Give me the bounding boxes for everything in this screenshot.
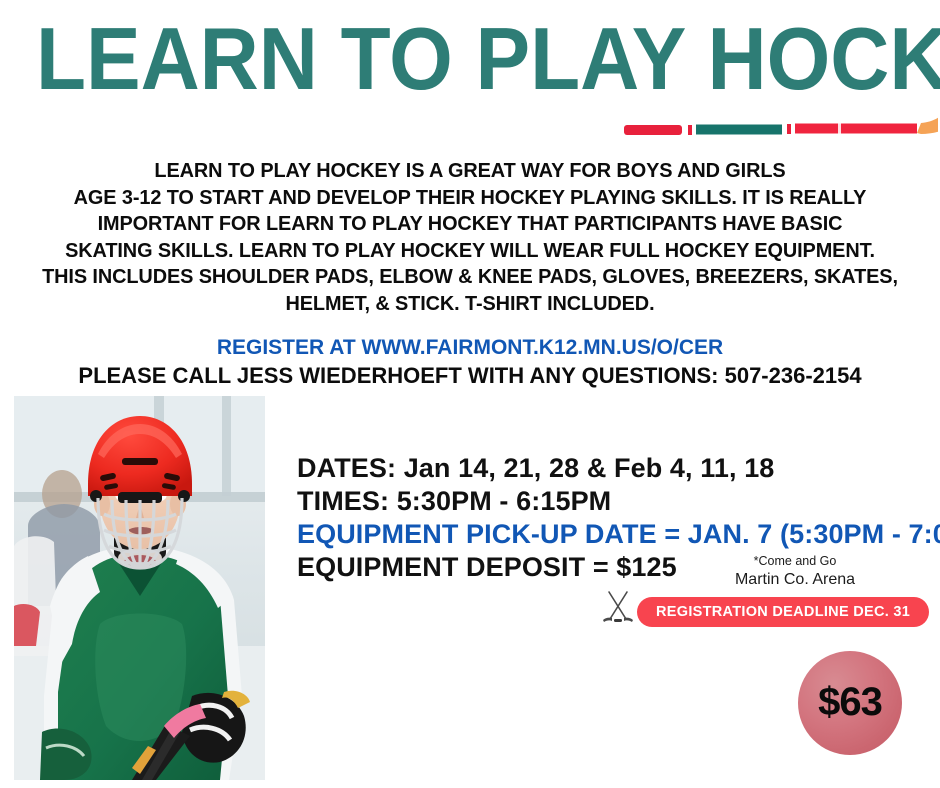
price-amount: $63 bbox=[818, 682, 882, 722]
equipment-pickup-row: EQUIPMENT PICK-UP DATE = JAN. 7 (5:30PM … bbox=[297, 518, 897, 551]
description-line-1: LEARN TO PLAY HOCKEY IS A GREAT WAY FOR … bbox=[14, 158, 926, 185]
avatar bbox=[14, 396, 265, 780]
price-badge: $63 bbox=[798, 651, 902, 755]
venue-note: *Come and Go Martin Co. Arena bbox=[700, 553, 890, 590]
times-row: TIMES: 5:30PM - 6:15PM bbox=[297, 485, 897, 518]
arena-name: Martin Co. Arena bbox=[700, 569, 890, 590]
description-line-4: SKATING SKILLS. LEARN TO PLAY HOCKEY WIL… bbox=[14, 238, 926, 265]
young-hockey-player-photo bbox=[14, 396, 265, 780]
description-line-6: HELMET, & STICK. T-SHIRT INCLUDED. bbox=[14, 291, 926, 318]
description-line-2: AGE 3-12 TO START AND DEVELOP THEIR HOCK… bbox=[14, 185, 926, 212]
crossed-sticks-puck-icon bbox=[596, 586, 640, 630]
status-badge: REGISTRATION DEADLINE DEC. 31 bbox=[637, 597, 929, 627]
register-url-line[interactable]: REGISTER AT WWW.FAIRMONT.K12.MN.US/O/CER bbox=[0, 336, 940, 360]
dates-row: DATES: Jan 14, 21, 28 & Feb 4, 11, 18 bbox=[297, 452, 897, 485]
contact-phone-line: PLEASE CALL JESS WIEDERHOEFT WITH ANY QU… bbox=[0, 363, 940, 389]
come-and-go-note: *Come and Go bbox=[700, 553, 890, 569]
hockey-stick-icon bbox=[608, 84, 938, 154]
description-line-3: IMPORTANT FOR LEARN TO PLAY HOCKEY THAT … bbox=[14, 211, 926, 238]
description-line-5: THIS INCLUDES SHOULDER PADS, ELBOW & KNE… bbox=[14, 264, 926, 291]
description-block: LEARN TO PLAY HOCKEY IS A GREAT WAY FOR … bbox=[14, 158, 926, 317]
